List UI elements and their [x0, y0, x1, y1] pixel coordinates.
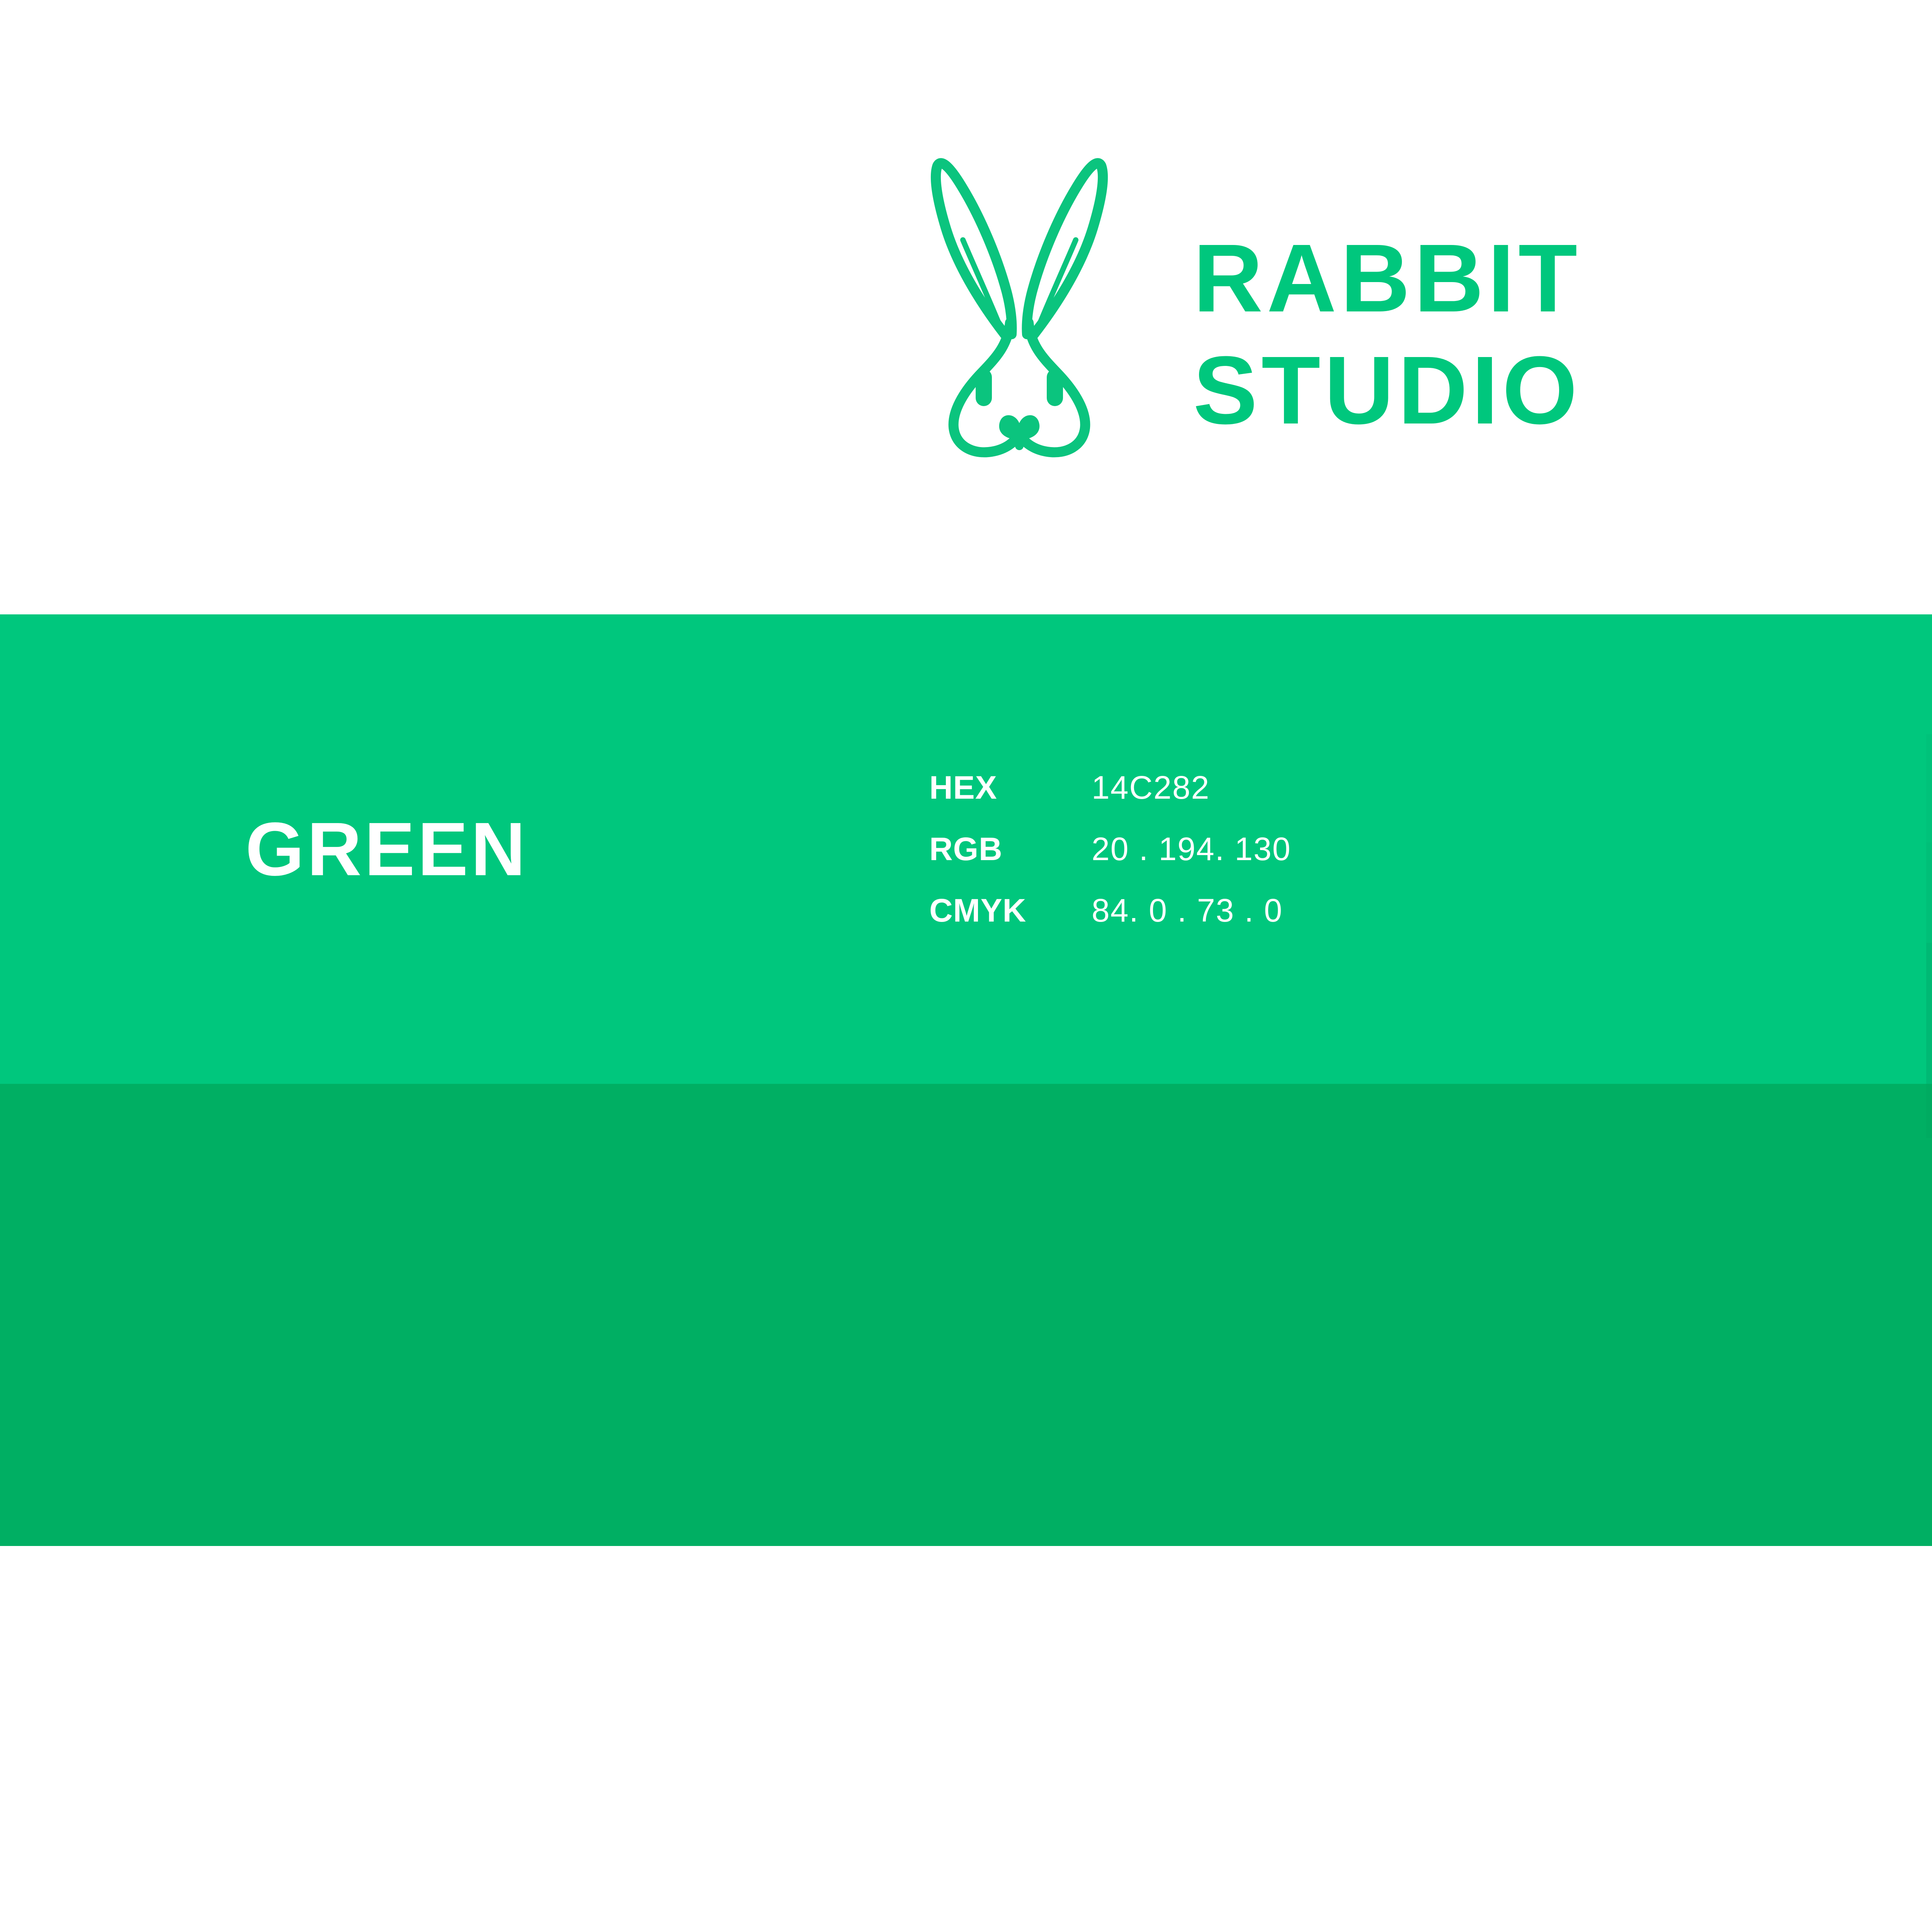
spec-value-rgb: 20 . 194. 130 [1092, 830, 1291, 868]
spec-key-cmyk: CMYK [929, 892, 1092, 929]
wordmark: RABBIT STUDIO [1193, 222, 1581, 446]
color-spec-table: HEX 14C282 RGB 20 . 194. 130 CMYK 84. 0 … [929, 769, 1291, 929]
wordmark-line-1: RABBIT [1193, 222, 1581, 334]
typography-section: MONTSERRAT ABCDEFGHIJKLMNOPQRSTUVWXYZ ab… [0, 1084, 1932, 1546]
rabbit-head-icon [892, 153, 1147, 462]
spec-row-cmyk: CMYK 84. 0 . 73 . 0 [929, 892, 1291, 929]
rabbit-eye-left [976, 369, 992, 406]
rabbit-eye-right [1047, 369, 1063, 406]
logo-lockup: RABBIT STUDIO [0, 0, 1932, 614]
rabbit-muzzle-line [1015, 428, 1024, 450]
spec-key-hex: HEX [929, 769, 1092, 806]
spec-value-hex: 14C282 [1092, 769, 1210, 806]
spec-row-hex: HEX 14C282 [929, 769, 1291, 806]
color-section: GREEN HEX 14C282 RGB 20 . 194. 130 CMYK … [0, 614, 1932, 1084]
spec-row-rgb: RGB 20 . 194. 130 [929, 830, 1291, 868]
wordmark-line-2: STUDIO [1193, 334, 1581, 446]
spec-key-rgb: RGB [929, 830, 1092, 868]
spec-value-cmyk: 84. 0 . 73 . 0 [1092, 892, 1283, 929]
color-name-label: GREEN [245, 806, 902, 893]
